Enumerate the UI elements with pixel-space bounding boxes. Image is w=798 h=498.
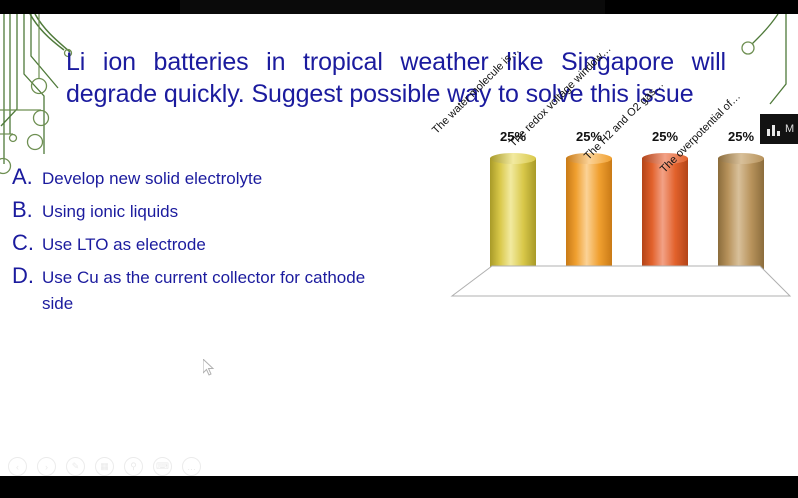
zoom-icon[interactable]: ⚲ xyxy=(124,457,143,476)
chart-bar-1: 25% xyxy=(490,153,536,281)
slide-canvas: Li ion batteries in tropical weather lik… xyxy=(0,14,798,476)
option-a-letter: A. xyxy=(12,164,42,190)
mouse-cursor xyxy=(203,359,216,377)
cylinder-body-2 xyxy=(566,158,612,281)
answer-options-list: A. Develop new solid electrolyte B. Usin… xyxy=(12,164,392,322)
chart-bar-value-3: 25% xyxy=(652,129,678,144)
cylinder-2 xyxy=(566,153,612,281)
cylinder-body-4 xyxy=(718,158,764,281)
bar-chart-icon xyxy=(766,123,781,136)
pen-icon[interactable]: ✎ xyxy=(66,457,85,476)
cylinder-cap-1 xyxy=(490,153,536,164)
option-d[interactable]: D. Use Cu as the current collector for c… xyxy=(12,263,392,317)
cylinder-1 xyxy=(490,153,536,281)
chart-menu-popup[interactable]: M xyxy=(760,114,798,144)
chart-bar-4: 25% xyxy=(718,153,764,281)
option-b-letter: B. xyxy=(12,197,42,223)
more-icon[interactable]: … xyxy=(182,457,201,476)
slides-icon[interactable]: ▦ xyxy=(95,457,114,476)
presentation-screen: Li ion batteries in tropical weather lik… xyxy=(0,0,798,498)
option-d-letter: D. xyxy=(12,263,42,289)
cylinder-body-3 xyxy=(642,158,688,281)
option-a-text: Develop new solid electrolyte xyxy=(42,164,262,192)
slide-title: Li ion batteries in tropical weather lik… xyxy=(66,46,726,110)
poll-results-chart: 25%25%25%25% The water molecule is…The r… xyxy=(430,114,798,414)
letterbox-bottom xyxy=(0,476,798,498)
caption-icon[interactable]: ⌨ xyxy=(153,457,172,476)
option-c-letter: C. xyxy=(12,230,42,256)
next-icon[interactable]: › xyxy=(37,457,56,476)
option-d-text: Use Cu as the current collector for cath… xyxy=(42,263,392,317)
previous-icon[interactable]: ‹ xyxy=(8,457,27,476)
cylinder-4 xyxy=(718,153,764,281)
cylinder-body-1 xyxy=(490,158,536,281)
chart-bar-2: 25% xyxy=(566,153,612,281)
option-c[interactable]: C. Use LTO as electrode xyxy=(12,230,392,258)
option-c-text: Use LTO as electrode xyxy=(42,230,206,258)
cylinder-cap-4 xyxy=(718,153,764,164)
chart-bar-value-4: 25% xyxy=(728,129,754,144)
chart-menu-label: M xyxy=(785,123,794,135)
option-b[interactable]: B. Using ionic liquids xyxy=(12,197,392,225)
option-b-text: Using ionic liquids xyxy=(42,197,178,225)
presentation-controls[interactable]: ‹›✎▦⚲⌨… xyxy=(8,457,201,476)
chart-floor-plane xyxy=(430,264,798,304)
option-a[interactable]: A. Develop new solid electrolyte xyxy=(12,164,392,192)
